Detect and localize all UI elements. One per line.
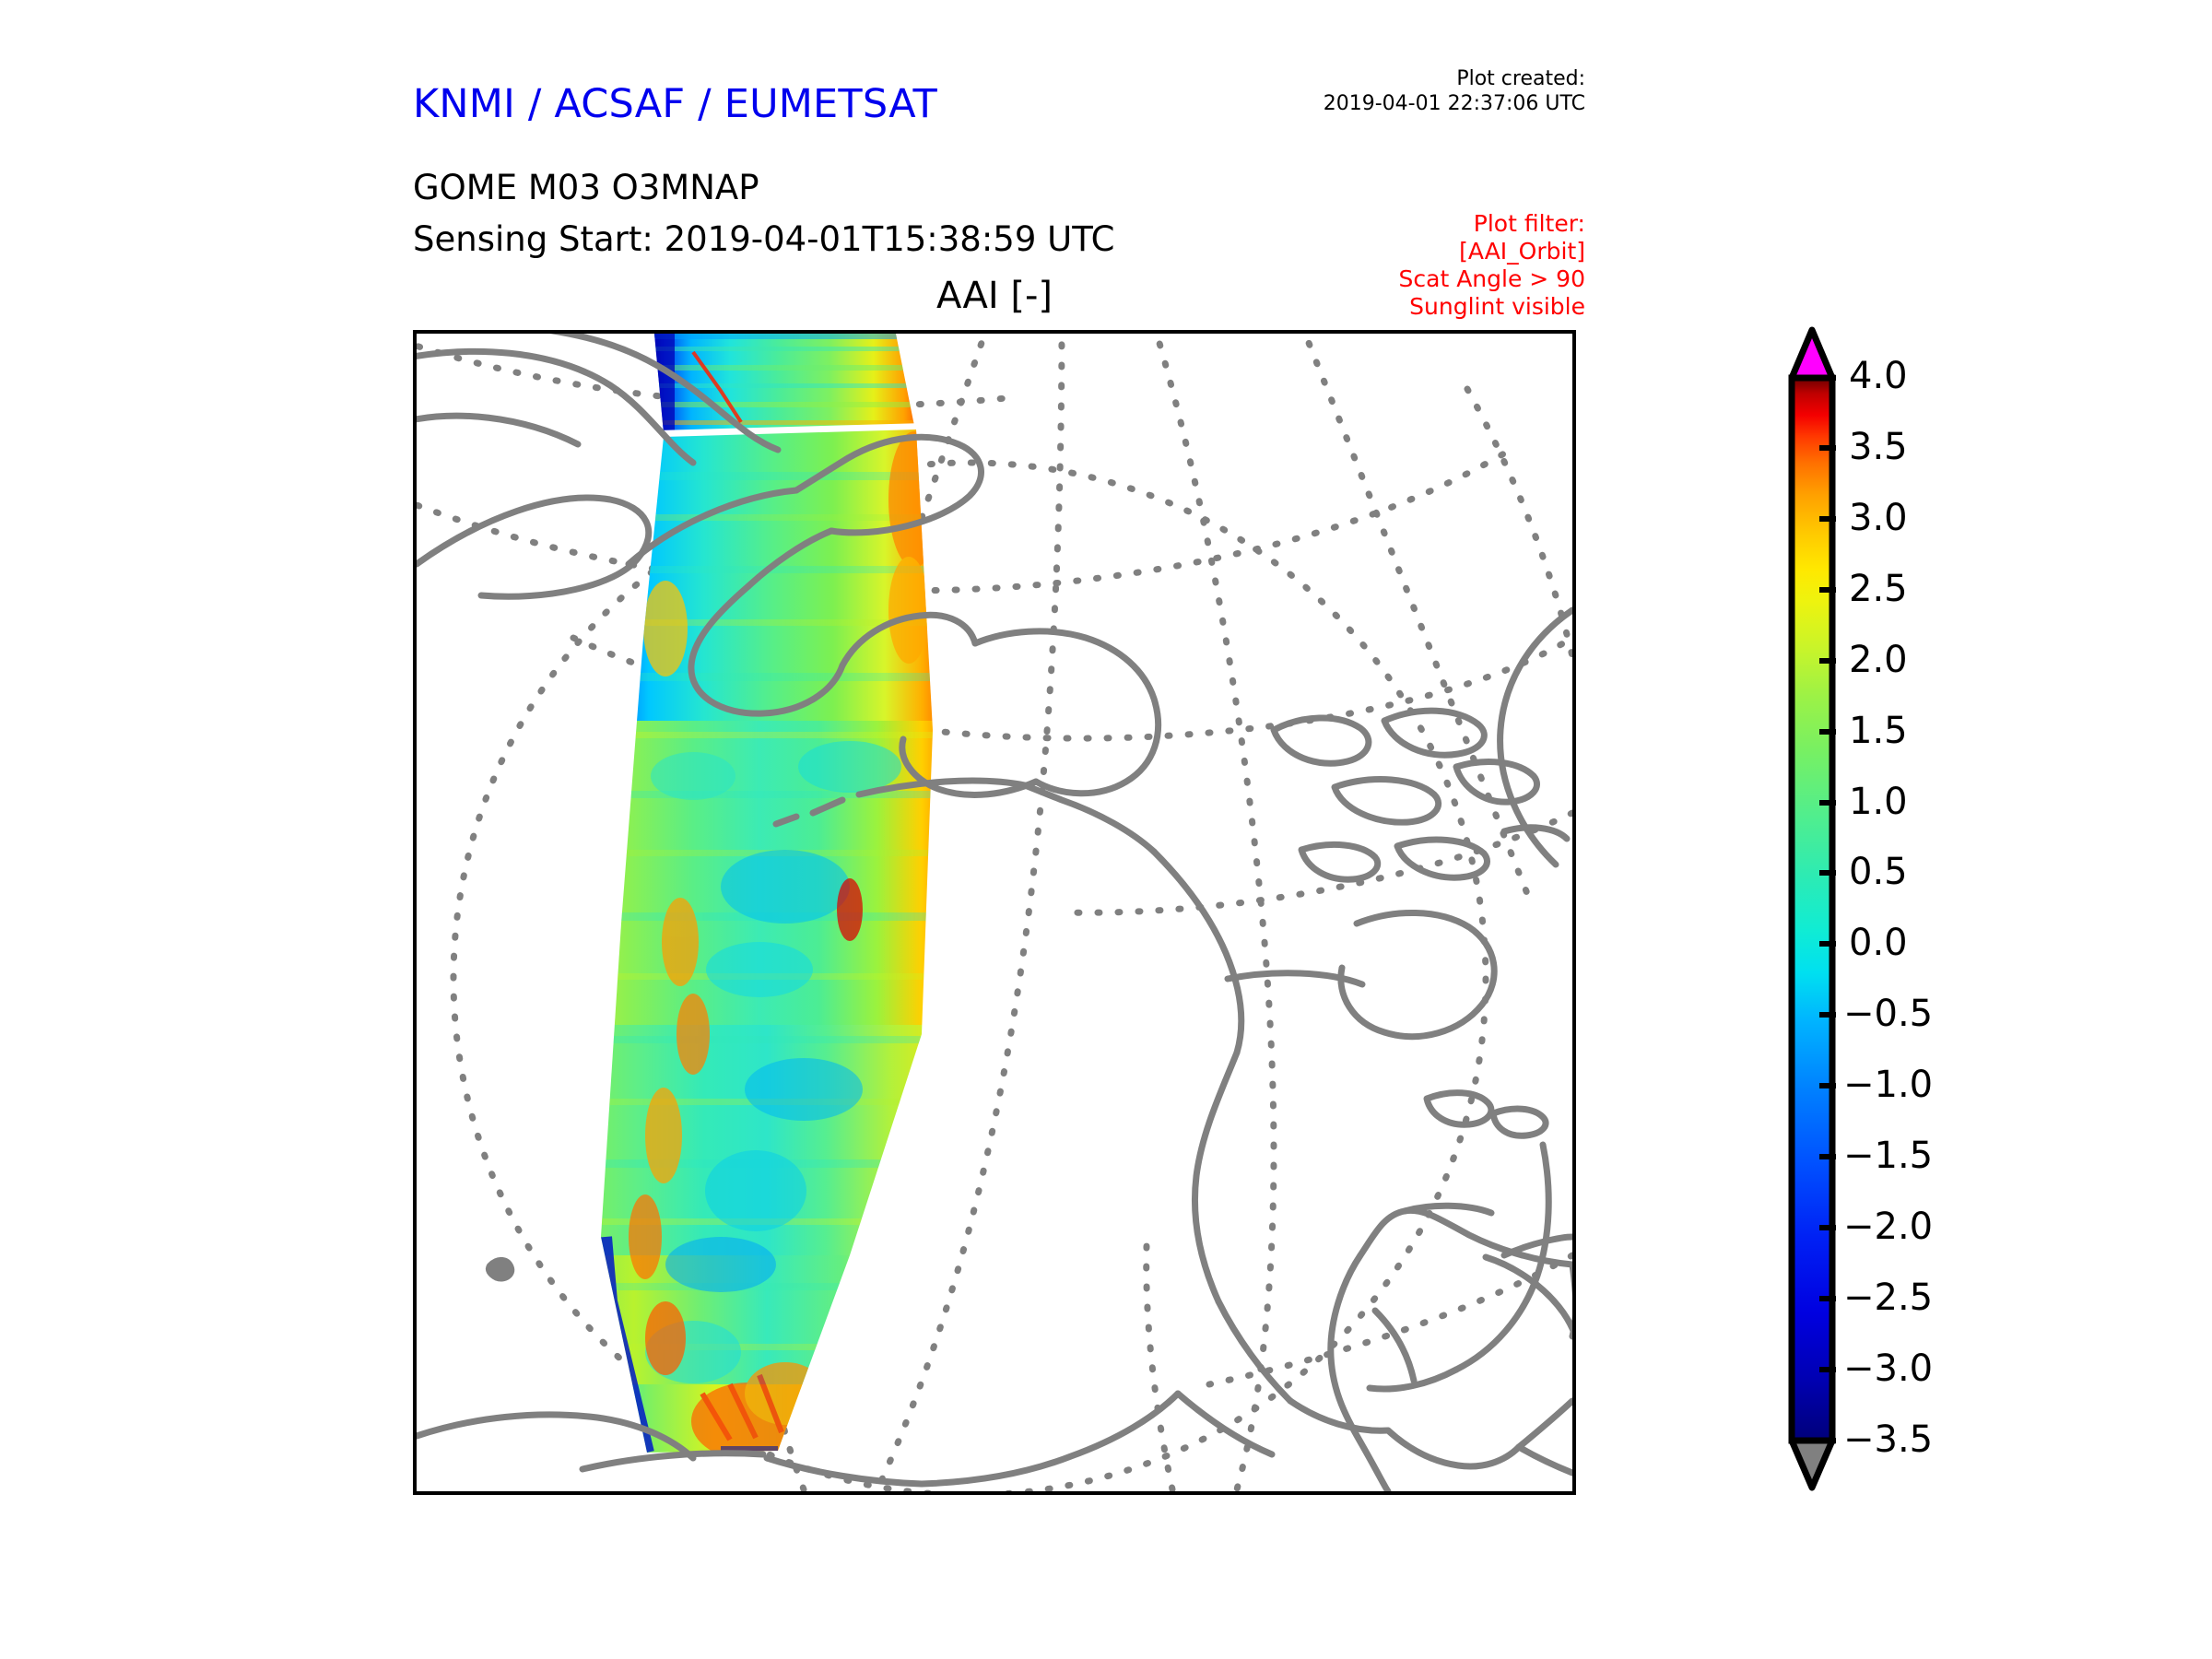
plot-created-value: 2019-04-01 22:37:06 UTC — [1324, 91, 1585, 116]
colorbar-tick-label: 0.5 — [1849, 853, 1908, 890]
colorbar-tick-label: −3.5 — [1843, 1421, 1933, 1458]
plot-created-label: Plot created: — [1324, 66, 1585, 91]
plot-created-block: Plot created: 2019-04-01 22:37:06 UTC — [1324, 66, 1585, 117]
coastline-island — [487, 1258, 512, 1280]
sensing-start-text: Sensing Start: 2019-04-01T15:38:59 UTC — [413, 219, 1114, 259]
colorbar-svg — [1779, 324, 2166, 1495]
colorbar-tick-label: 2.0 — [1849, 641, 1908, 678]
page-title-organisation: KNMI / ACSAF / EUMETSAT — [413, 81, 937, 127]
orthographic-map — [417, 334, 1572, 1491]
colorbar-tick-label: 2.5 — [1849, 571, 1908, 607]
coastline-southern-lands — [417, 1394, 1272, 1484]
colorbar-tick-label: −1.5 — [1843, 1137, 1933, 1174]
colorbar-under-arrow — [1792, 1441, 1832, 1488]
plot-filter-label: Plot filter: — [1399, 210, 1585, 238]
colorbar-tick-label: −3.0 — [1843, 1350, 1933, 1387]
axes-title: AAI [-] — [413, 275, 1576, 317]
colorbar-bar — [1792, 378, 1832, 1441]
colorbar-tick-label: −2.0 — [1843, 1208, 1933, 1245]
product-title: GOME M03 O3MNAP — [413, 168, 759, 207]
colorbar-tick-label: 3.0 — [1849, 500, 1908, 536]
colorbar-tick-label: 3.5 — [1849, 429, 1908, 465]
colorbar-tick-label: −1.0 — [1843, 1066, 1933, 1103]
colorbar-over-arrow — [1792, 330, 1832, 378]
coastlines — [417, 334, 1572, 1473]
coastline-south-america — [1331, 1206, 1572, 1491]
colorbar-tick-label: 4.0 — [1849, 358, 1908, 394]
colorbar[interactable]: 4.0 3.5 3.0 2.5 2.0 1.5 1.0 0.5 0.0 −0.5… — [1779, 324, 2166, 1495]
colorbar-tick-label: 0.0 — [1849, 924, 1908, 961]
colorbar-tick-label: 1.5 — [1849, 712, 1908, 749]
colorbar-tick-label: 1.0 — [1849, 783, 1908, 820]
map-plot-area[interactable] — [413, 330, 1576, 1495]
colorbar-tick-label: −2.5 — [1843, 1279, 1933, 1316]
plot-filter-name: [AAI_Orbit] — [1399, 238, 1585, 265]
colorbar-tick-label: −0.5 — [1843, 995, 1933, 1032]
